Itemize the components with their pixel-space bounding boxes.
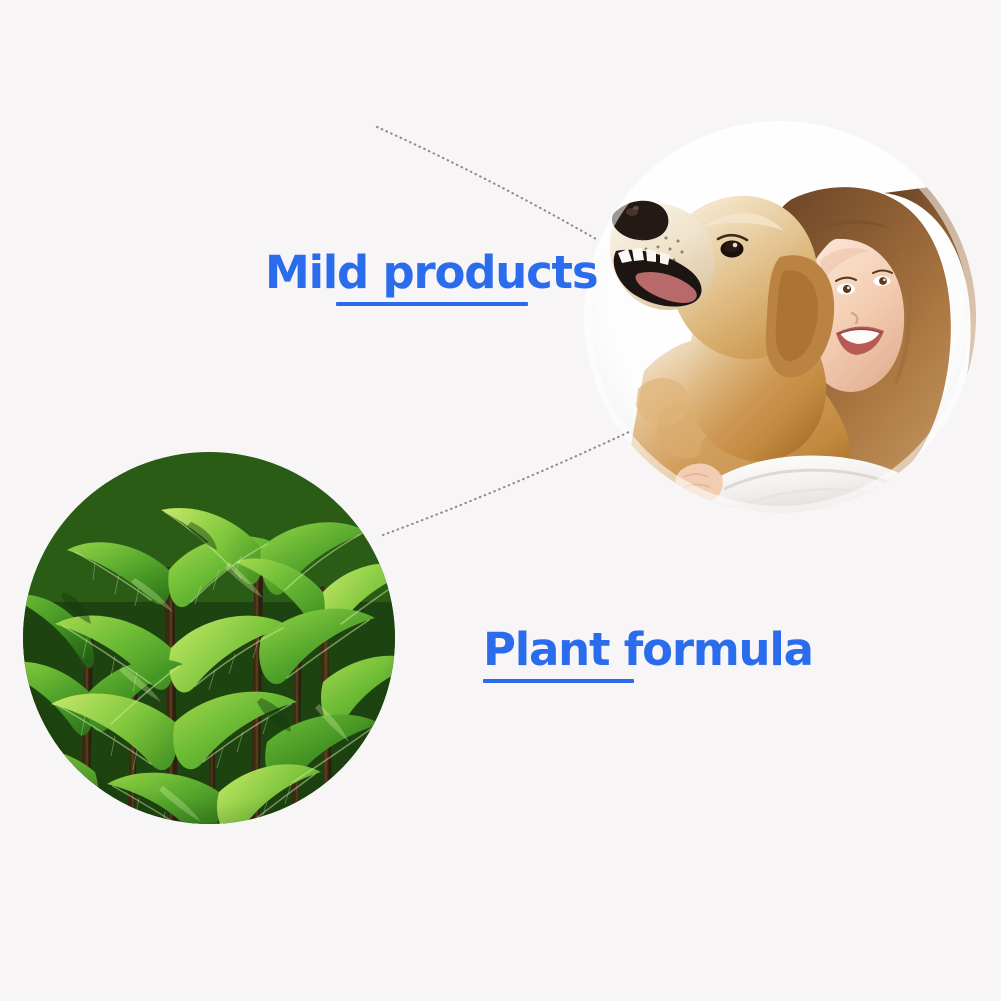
infographic-canvas: Mild products Plant formula	[0, 0, 1001, 1001]
mild-products-connector	[377, 127, 596, 239]
mild-products-caption: Mild products	[265, 250, 597, 306]
plant-formula-photo-clip	[23, 452, 395, 824]
mint-leaves-illustration	[23, 452, 395, 824]
plant-formula-caption: Plant formula	[483, 627, 813, 683]
plant-formula-photo	[23, 452, 395, 824]
plant-formula-connector	[383, 431, 631, 535]
dog-and-girl-illustration	[584, 121, 976, 513]
mild-products-photo	[584, 121, 976, 513]
mild-products-label: Mild products	[265, 250, 597, 295]
plant-formula-label: Plant formula	[483, 627, 813, 672]
plant-formula-underline	[483, 679, 634, 683]
mild-products-photo-clip	[584, 121, 976, 513]
mild-products-underline	[336, 302, 528, 306]
